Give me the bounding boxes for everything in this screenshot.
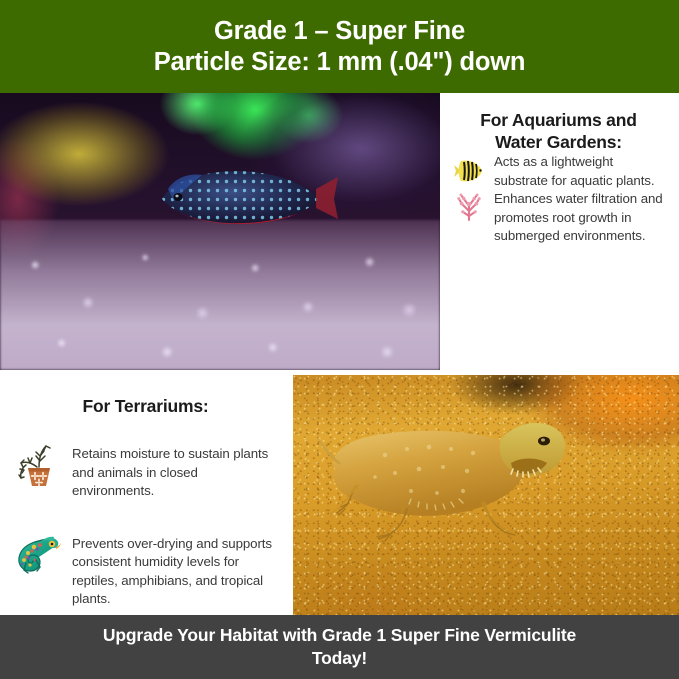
- footer-cta-line2: Today!: [312, 647, 367, 670]
- aquarium-bullet-2-text: Enhances water filtration and promotes r…: [494, 190, 665, 246]
- list-item: Prevents over-drying and supports consis…: [10, 531, 281, 609]
- list-item: Acts as a lightweight substrate for aqua…: [452, 153, 665, 190]
- header-title-line2: Particle Size: 1 mm (.04") down: [154, 47, 526, 78]
- chameleon-icon: [10, 527, 64, 581]
- wrasse-fish-illustration: [150, 159, 340, 231]
- potted-plant-icon: [10, 437, 64, 491]
- aquarium-heading-line2: Water Gardens:: [495, 132, 622, 152]
- aquarium-bullet-1-text: Acts as a lightweight substrate for aqua…: [494, 153, 665, 190]
- footer-cta-line1: Upgrade Your Habitat with Grade 1 Super …: [103, 624, 576, 647]
- terrarium-bullet-1-text: Retains moisture to sustain plants and a…: [72, 441, 281, 501]
- terrarium-section: For Terrariums:: [0, 373, 679, 615]
- list-item: Enhances water filtration and promotes r…: [452, 190, 665, 246]
- aquarium-photo: [0, 93, 440, 370]
- aquarium-section: For Aquariums and Water Gardens: Acts as…: [0, 93, 679, 373]
- terrarium-bullet-2-text: Prevents over-drying and supports consis…: [72, 531, 281, 609]
- infographic-page: Grade 1 – Super Fine Particle Size: 1 mm…: [0, 0, 679, 679]
- aquarium-text-panel: For Aquariums and Water Gardens: Acts as…: [440, 93, 679, 373]
- header-banner: Grade 1 – Super Fine Particle Size: 1 mm…: [0, 0, 679, 93]
- list-item: Retains moisture to sustain plants and a…: [10, 441, 281, 501]
- aquarium-heading: For Aquariums and Water Gardens:: [452, 109, 665, 153]
- coral-icon: [452, 191, 486, 225]
- terrarium-text-panel: For Terrariums:: [0, 373, 293, 615]
- terrarium-photo: [293, 375, 679, 615]
- terrarium-heading: For Terrariums:: [10, 395, 281, 417]
- footer-cta-banner: Upgrade Your Habitat with Grade 1 Super …: [0, 615, 679, 679]
- aquarium-gravel: [0, 220, 440, 370]
- header-title-line1: Grade 1 – Super Fine: [214, 16, 465, 47]
- tropical-fish-icon: [452, 154, 486, 188]
- aquarium-heading-line1: For Aquariums and: [480, 110, 636, 130]
- bearded-dragon-illustration: [315, 403, 615, 583]
